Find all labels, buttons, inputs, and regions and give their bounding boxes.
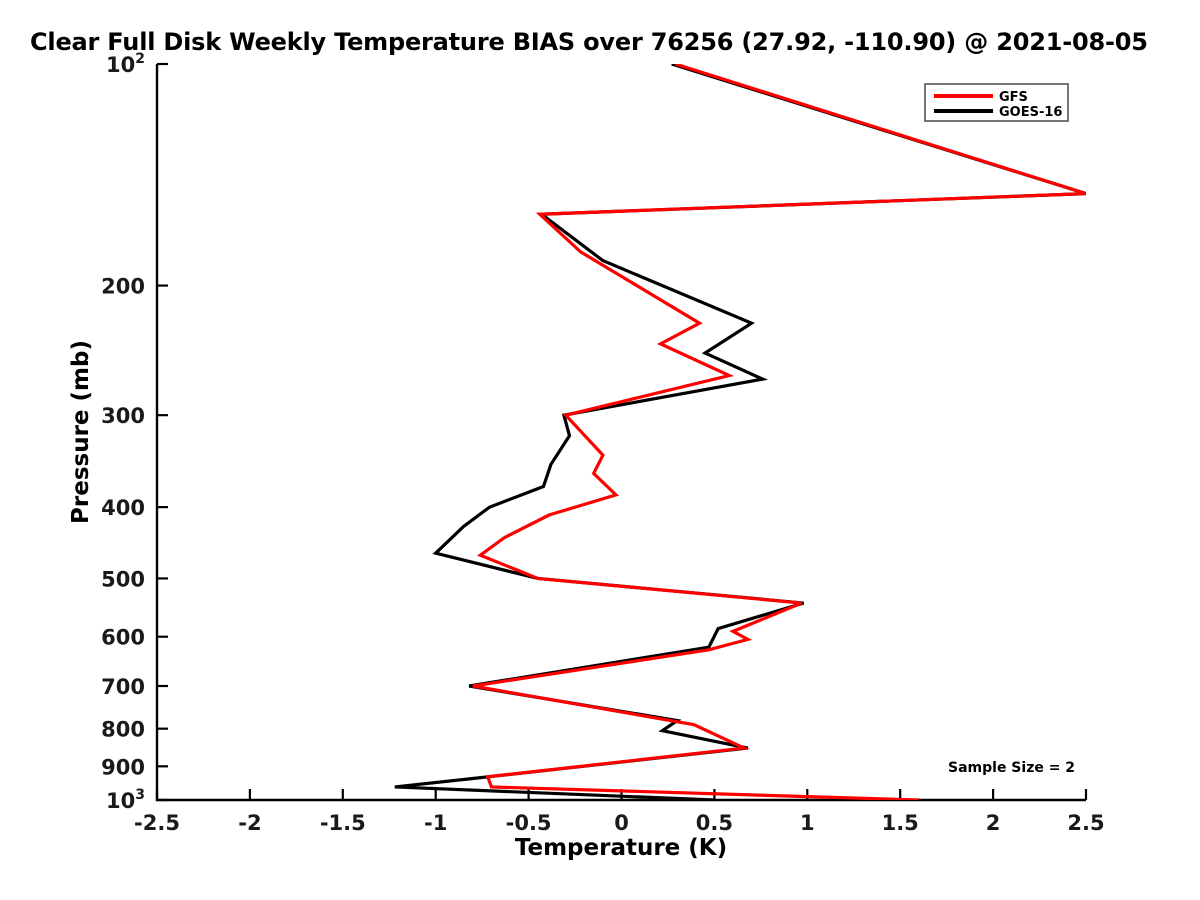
y-tick-label: 900 bbox=[101, 755, 145, 779]
y-tick-label: 200 bbox=[101, 275, 145, 299]
x-tick-label: -1 bbox=[424, 811, 447, 835]
x-tick-label: -2.5 bbox=[134, 811, 180, 835]
x-tick-label: -1.5 bbox=[320, 811, 366, 835]
series-lines-group bbox=[395, 64, 1086, 800]
x-tick-label: 2.5 bbox=[1067, 811, 1104, 835]
x-tick-label: 0.5 bbox=[696, 811, 733, 835]
x-tick-label: -2 bbox=[238, 811, 261, 835]
legend-label-goes16: GOES-16 bbox=[999, 105, 1062, 120]
x-tick-label: 2 bbox=[986, 811, 1001, 835]
x-tick-label: 1.5 bbox=[882, 811, 919, 835]
y-tick-label: 500 bbox=[101, 567, 145, 591]
x-tick-label: 1 bbox=[800, 811, 815, 835]
sample-size-annotation: Sample Size = 2 bbox=[948, 760, 1075, 776]
x-tick-label: -0.5 bbox=[506, 811, 552, 835]
x-tick-label: 0 bbox=[614, 811, 629, 835]
y-tick-label: 103 bbox=[106, 787, 145, 813]
axis-spines bbox=[157, 64, 1086, 800]
series-line-gfs bbox=[473, 64, 1086, 800]
y-tick-label: 700 bbox=[101, 675, 145, 699]
y-tick-label: 800 bbox=[101, 718, 145, 742]
chart-legend[interactable]: GFS GOES-16 bbox=[925, 84, 1068, 121]
y-tick-label: 400 bbox=[101, 496, 145, 520]
x-axis-label: Temperature (K) bbox=[515, 835, 727, 861]
y-tick-label: 300 bbox=[101, 404, 145, 428]
temperature-bias-profile-plot: -2.5-2-1.5-1-0.500.511.522.5 10220030040… bbox=[0, 0, 1200, 900]
chart-figure: Clear Full Disk Weekly Temperature BIAS … bbox=[0, 0, 1200, 900]
y-tick-label: 600 bbox=[101, 626, 145, 650]
y-tick-label: 102 bbox=[106, 51, 145, 77]
legend-label-gfs: GFS bbox=[999, 90, 1028, 105]
y-axis-label: Pressure (mb) bbox=[68, 340, 94, 524]
